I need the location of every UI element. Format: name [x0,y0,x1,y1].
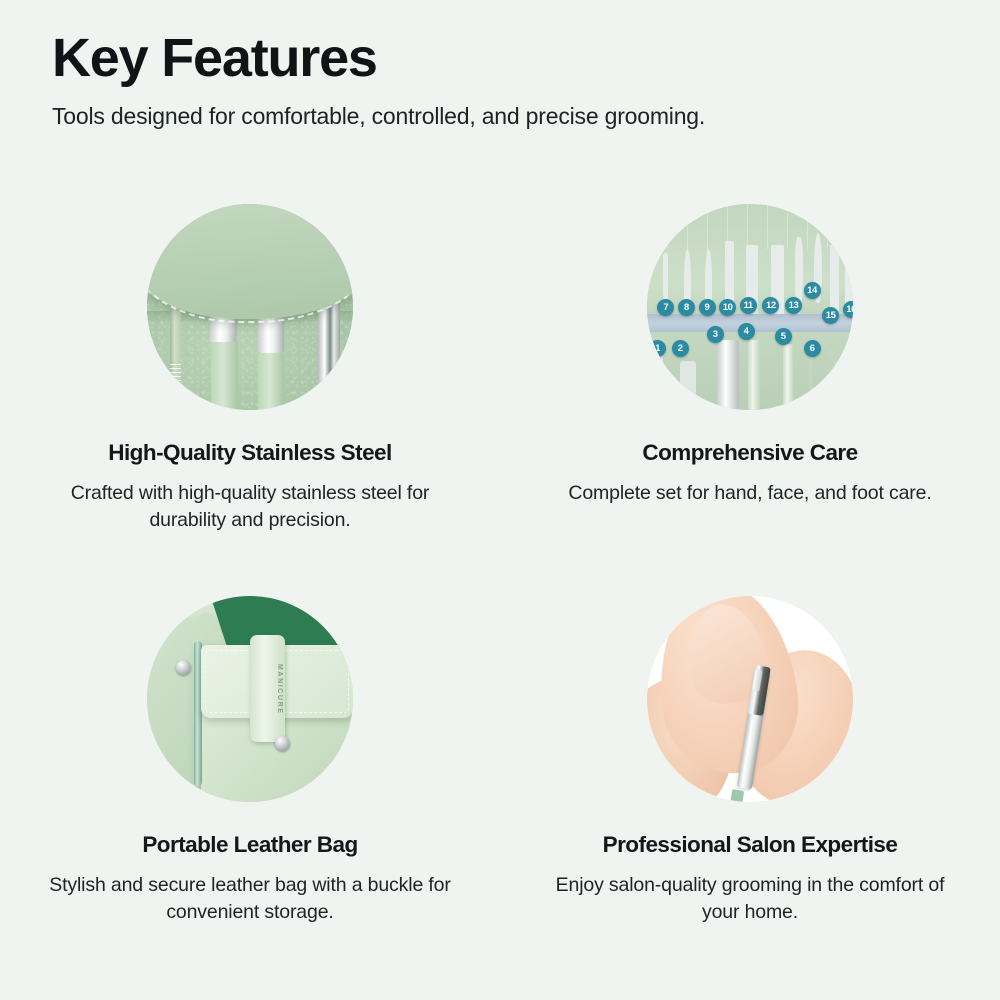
kit-badge-8: 8 [678,299,695,316]
feature-title: High-Quality Stainless Steel [108,440,391,466]
bag-emboss-text: MANICURE [276,664,283,715]
feature-image-wrap: 7 8 9 10 11 12 13 14 15 16 1 2 3 4 5 6 [647,204,853,410]
pouch-flap-stitching [147,204,353,323]
kit-badge-1: 1 [649,340,666,357]
key-features-page: Key Features Tools designed for comforta… [0,0,1000,1000]
kit-badge-15: 15 [822,307,839,324]
kit-tool-3-nail-clipper [717,340,739,410]
feature-description: Crafted with high-quality stainless stee… [40,480,460,534]
feature-description: Complete set for hand, face, and foot ca… [568,480,931,507]
feature-title: Comprehensive Care [642,440,857,466]
nail-clipper-green-tip [730,789,744,802]
kit-tool-4-pusher [748,340,760,410]
kit-badge-9: 9 [699,299,716,316]
feature-description: Stylish and secure leather bag with a bu… [40,872,460,926]
kit-badge-4: 4 [738,323,755,340]
kit-badge-14: 14 [804,282,821,299]
numbered-manicure-kit-image: 7 8 9 10 11 12 13 14 15 16 1 2 3 4 5 6 [647,204,853,410]
feature-card-portable-bag: MANICURE Portable Leather Bag Stylish an… [0,574,500,966]
feature-grid: High-Quality Stainless Steel Crafted wit… [0,182,1000,966]
kit-tool-2 [680,361,696,410]
kit-badge-6: 6 [804,340,821,357]
kit-tool-5-probe [783,344,794,410]
kit-tool-15 [830,245,839,311]
feature-card-salon-expertise: Professional Salon Expertise Enjoy salon… [500,574,1000,966]
kit-elastic-slots [647,204,853,249]
kit-badge-10: 10 [719,299,736,316]
file-green-handle [258,353,284,410]
page-subtitle: Tools designed for comfortable, controll… [52,103,952,130]
nail-clipper-on-finger-image [647,596,853,802]
feature-title: Professional Salon Expertise [603,832,898,858]
file-green-handle [211,342,238,410]
kit-badge-7: 7 [657,299,674,316]
feature-image-wrap: MANICURE [147,596,353,802]
feature-card-comprehensive-care: 7 8 9 10 11 12 13 14 15 16 1 2 3 4 5 6 [500,182,1000,574]
feature-description: Enjoy salon-quality grooming in the comf… [540,872,960,926]
feature-card-stainless-steel: High-Quality Stainless Steel Crafted wit… [0,182,500,574]
kit-badge-2: 2 [672,340,689,357]
feature-image-wrap [147,204,353,410]
header: Key Features Tools designed for comforta… [52,30,952,130]
page-title: Key Features [52,30,952,87]
rivet-buckle [275,736,290,751]
kit-badge-12: 12 [762,297,779,314]
kit-badge-5: 5 [775,328,792,345]
tweezer-grip-ridges [170,364,181,410]
kit-badge-3: 3 [707,326,724,343]
kit-tool-1 [651,352,663,406]
feature-title: Portable Leather Bag [142,832,357,858]
green-leather-bag-with-buckle-image: MANICURE [147,596,353,802]
feature-image-wrap [647,596,853,802]
stainless-steel-tools-in-pouch-image [147,204,353,410]
rivet-left [176,660,191,675]
kit-badge-13: 13 [785,297,802,314]
kit-badge-11: 11 [740,297,757,314]
